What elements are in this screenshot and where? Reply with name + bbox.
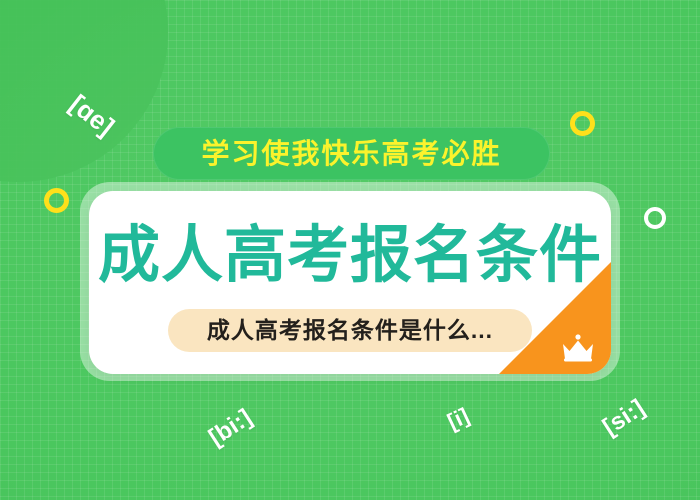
subtitle-text: 成人高考报名条件是什么...: [207, 319, 493, 342]
crown-icon: [561, 334, 595, 362]
yellow-ring-left-icon: [44, 188, 69, 213]
phonetic-decoration-i: [i]: [443, 403, 473, 435]
card-title: 成人高考报名条件: [89, 225, 611, 287]
white-ring-right-icon: [644, 207, 666, 229]
poster-canvas: [ɑe] [bi:] [i] [si:] 学习使我快乐高考必胜 成人高考报名条件…: [0, 0, 700, 500]
phonetic-decoration-si: [si:]: [598, 394, 650, 441]
phonetic-decoration-bi: [bi:]: [204, 404, 257, 452]
subtitle-pill: 成人高考报名条件是什么...: [168, 309, 532, 352]
slogan-pill: 学习使我快乐高考必胜: [153, 127, 550, 180]
slogan-text: 学习使我快乐高考必胜: [201, 140, 501, 168]
yellow-ring-right-icon: [570, 111, 595, 136]
